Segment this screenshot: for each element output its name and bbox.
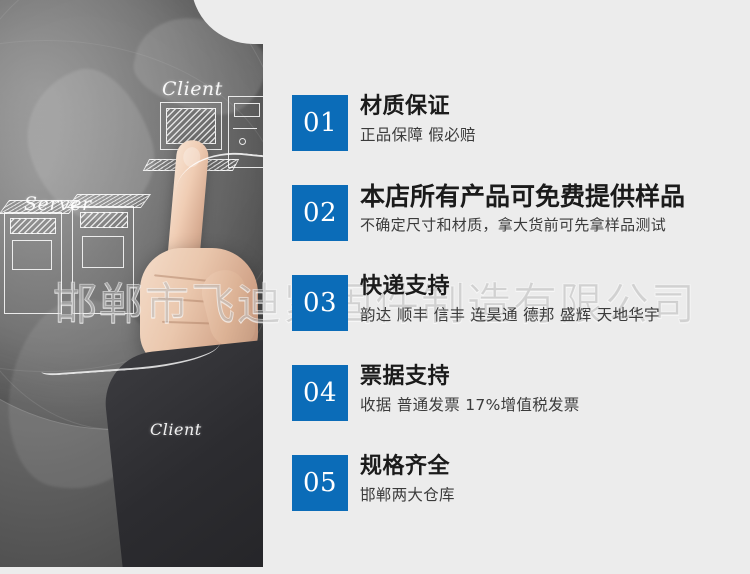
service-guarantee-banner: Client Server Client 邯郸市飞迪紧固件制造有限公司 01 材…	[0, 0, 750, 574]
feature-item-03: 03 快递支持 韵达 顺丰 信丰 连昊通 德邦 盛辉 天地华宇	[292, 275, 750, 365]
feature-title: 规格齐全	[360, 452, 750, 482]
feature-subtitle: 正品保障 假必赔	[360, 122, 750, 148]
feature-item-02: 02 本店所有产品可免费提供样品 不确定尺寸和材质，拿大货前可先拿样品测试	[292, 185, 750, 275]
feature-text-block: 快递支持 韵达 顺丰 信丰 连昊通 德邦 盛辉 天地华宇	[360, 272, 750, 328]
hero-photo-panel: Client Server Client	[0, 0, 263, 567]
feature-subtitle: 邯郸两大仓库	[360, 482, 750, 508]
feature-title: 材质保证	[360, 92, 750, 122]
feature-text-block: 材质保证 正品保障 假必赔	[360, 92, 750, 148]
feature-number-badge: 05	[292, 455, 348, 511]
feature-item-04: 04 票据支持 收据 普通发票 17%增值税发票	[292, 365, 750, 455]
feature-number-badge: 01	[292, 95, 348, 151]
feature-title: 票据支持	[360, 362, 750, 392]
feature-text-block: 票据支持 收据 普通发票 17%增值税发票	[360, 362, 750, 418]
feature-list: 01 材质保证 正品保障 假必赔 02 本店所有产品可免费提供样品 不确定尺寸和…	[292, 95, 750, 545]
feature-text-block: 本店所有产品可免费提供样品 不确定尺寸和材质，拿大货前可先拿样品测试	[360, 182, 750, 238]
label-client-top: Client	[162, 78, 223, 100]
feature-subtitle: 韵达 顺丰 信丰 连昊通 德邦 盛辉 天地华宇	[360, 302, 750, 328]
feature-number-badge: 04	[292, 365, 348, 421]
feature-text-block: 规格齐全 邯郸两大仓库	[360, 452, 750, 508]
sleeve	[101, 336, 263, 567]
feature-item-01: 01 材质保证 正品保障 假必赔	[292, 95, 750, 185]
label-server: Server	[24, 193, 91, 215]
feature-title: 快递支持	[360, 272, 750, 302]
feature-item-05: 05 规格齐全 邯郸两大仓库	[292, 455, 750, 545]
feature-number-badge: 02	[292, 185, 348, 241]
feature-title: 本店所有产品可免费提供样品	[360, 182, 750, 212]
label-client-bottom: Client	[150, 420, 202, 439]
feature-subtitle: 不确定尺寸和材质，拿大货前可先拿样品测试	[360, 212, 750, 238]
feature-subtitle: 收据 普通发票 17%增值税发票	[360, 392, 750, 418]
feature-number-badge: 03	[292, 275, 348, 331]
